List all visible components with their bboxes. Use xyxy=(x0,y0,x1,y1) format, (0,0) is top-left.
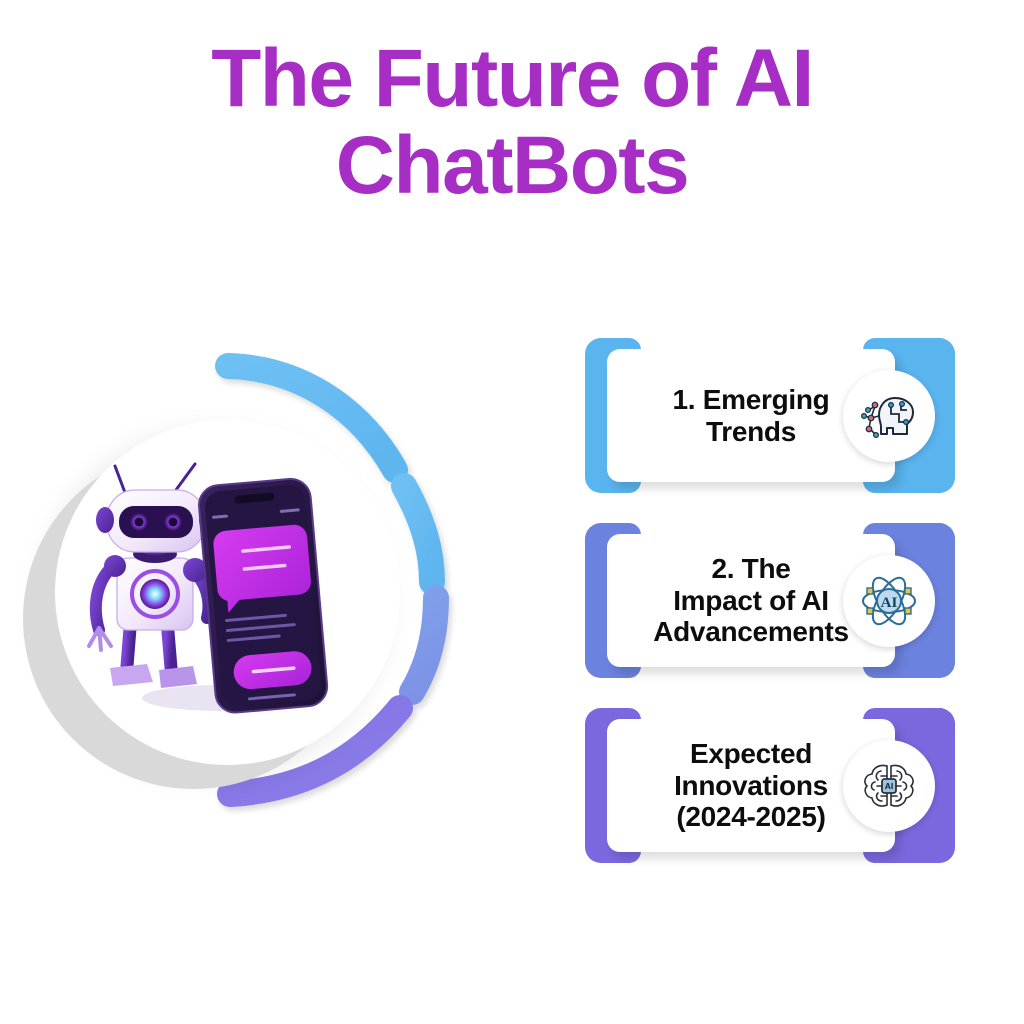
card-label-1: 1. Emerging Trends xyxy=(673,384,830,447)
card-badge-3: AI xyxy=(843,740,935,832)
card-expected-innovations[interactable]: Expected Innovations (2024-2025) xyxy=(585,708,955,863)
ai-chatbot-illustration xyxy=(55,420,400,765)
card-badge-2: AI xyxy=(843,555,935,647)
atom-ai-label: AI xyxy=(881,595,898,611)
page-title-line-1: The Future of AI xyxy=(0,36,1024,123)
card-badge-1 xyxy=(843,370,935,462)
card-emerging-trends[interactable]: 1. Emerging Trends xyxy=(585,338,955,493)
page-title-line-2: ChatBots xyxy=(0,123,1024,210)
brain-chip-label: AI xyxy=(885,781,894,791)
atom-ai-icon: AI xyxy=(857,569,921,633)
card-impact-of-ai[interactable]: 2. The Impact of AI Advancements AI xyxy=(585,523,955,678)
ai-head-circuit-icon xyxy=(857,384,921,448)
hub-circle xyxy=(55,420,400,765)
brain-ai-chip-icon: AI xyxy=(857,754,921,818)
infographic-diagram: 1. Emerging Trends xyxy=(0,290,1024,930)
card-label-3: Expected Innovations (2024-2025) xyxy=(674,738,828,833)
card-label-2: 2. The Impact of AI Advancements xyxy=(653,553,849,648)
page-title: The Future of AI ChatBots xyxy=(0,36,1024,210)
